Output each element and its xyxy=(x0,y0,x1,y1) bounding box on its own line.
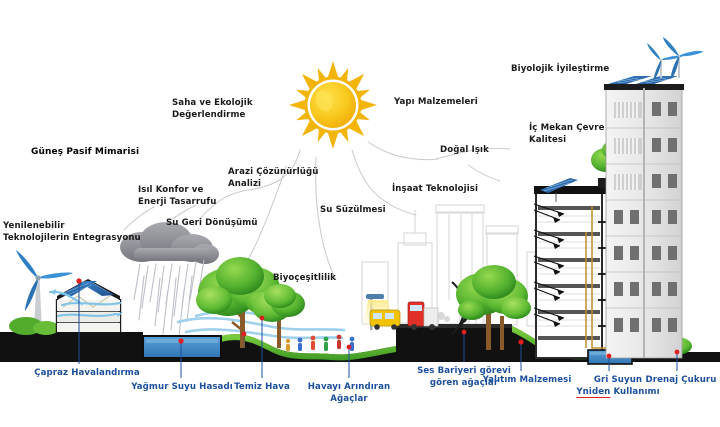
label-line: Yağmur Suyu Hasadı xyxy=(131,382,233,394)
label-line: Isıl Konfor ve xyxy=(138,185,216,197)
label-line: Biyolojik İyileştirme xyxy=(511,64,609,76)
label-line: Yalıtım Malzemesi xyxy=(483,375,572,387)
map-pin xyxy=(462,330,467,335)
label-line: Teknolojilerin Entegrasyonu xyxy=(3,233,141,245)
label-line: Biyoçeşitlilik xyxy=(273,273,336,285)
label-dogal-isik: Doğal Işık xyxy=(440,145,489,157)
label-line: Yapı Malzemeleri xyxy=(394,97,478,109)
sun-icon xyxy=(289,61,377,149)
label-line: İç Mekan Çevre xyxy=(529,123,605,135)
label-yapi-malzemeleri: Yapı Malzemeleri xyxy=(394,97,478,109)
label-line: Kalitesi xyxy=(529,135,605,147)
label-insaat-teknolojisi: İnşaat Teknolojisi xyxy=(392,184,478,196)
label-gunes-pasif-mimarisi: Güneş Pasif Mimarisi xyxy=(31,147,139,159)
spellcheck-underline: Yniden xyxy=(576,387,610,398)
map-pin xyxy=(675,350,680,355)
label-yalitim-malzemesi: Yalıtım Malzemesi xyxy=(483,375,572,387)
label-line: Temiz Hava xyxy=(234,382,290,394)
label-temiz-hava: Temiz Hava xyxy=(234,382,290,394)
label-su-suzulmesi: Su Süzülmesi xyxy=(320,205,386,217)
label-yenilenebilir-teknolojilerin-entegrasyonu: YenilenebilirTeknolojilerin Entegrasyonu xyxy=(3,221,141,244)
label-havayi-arindiran-agaclar: Havayı ArındıranAğaçlar xyxy=(308,382,390,405)
label-biyocesitlilik: Biyoçeşitlilik xyxy=(273,273,336,285)
label-ic-mekan-cevre-kalitesi: İç Mekan ÇevreKalitesi xyxy=(529,123,605,146)
label-line: Havayı Arındıran xyxy=(308,382,390,394)
map-pin xyxy=(347,345,352,350)
map-pin xyxy=(607,354,612,359)
label-yagmur-suyu-hasadi: Yağmur Suyu Hasadı xyxy=(131,382,233,394)
label-su-geri-donusumu: Su Geri Dönüşümü xyxy=(166,218,258,230)
label-arazi-cozunurlugu-analizi: Arazi ÇözünürlüğüAnalizi xyxy=(228,167,318,190)
house-cross-section xyxy=(50,278,123,332)
rooftop-wind-turbines xyxy=(646,37,703,81)
label-biyolojik-iyilestirme: Biyolojik İyileştirme xyxy=(511,64,609,76)
label-capraz-havalandirma: Çapraz Havalandırma xyxy=(34,368,140,380)
rooftop-solar-panels xyxy=(608,76,678,84)
map-pin xyxy=(179,339,184,344)
infographic-canvas: Saha ve EkolojikDeğerlendirmeGüneş Pasif… xyxy=(0,0,720,427)
label-isil-konfor-ve-enerji-tasarrufu: Isıl Konfor veEnerji Tasarrufu xyxy=(138,185,216,208)
label-drenaj-cukuru: Drenaj Çukuru xyxy=(646,375,717,387)
label-line: Doğal Işık xyxy=(440,145,489,157)
label-line: Çapraz Havalandırma xyxy=(34,368,140,380)
rain-drops xyxy=(134,260,204,336)
label-line: Güneş Pasif Mimarisi xyxy=(31,147,139,159)
label-line: Yniden Kullanımı xyxy=(576,387,659,399)
label-line: Saha ve Ekolojik xyxy=(172,98,253,110)
tall-building xyxy=(604,37,703,358)
map-pin xyxy=(519,340,524,345)
map-pin xyxy=(77,279,82,284)
label-line: İnşaat Teknolojisi xyxy=(392,184,478,196)
label-line: Analizi xyxy=(228,179,318,191)
label-line: Değerlendirme xyxy=(172,110,253,122)
map-pin xyxy=(260,316,265,321)
label-line: Arazi Çözünürlüğü xyxy=(228,167,318,179)
solar-panel-roof xyxy=(60,281,114,296)
label-line: Enerji Tasarrufu xyxy=(138,197,216,209)
label-line: Drenaj Çukuru xyxy=(646,375,717,387)
label-line: Su Geri Dönüşümü xyxy=(166,218,258,230)
label-line: Ağaçlar xyxy=(308,394,390,406)
label-line: Yenilenebilir xyxy=(3,221,141,233)
label-line: Su Süzülmesi xyxy=(320,205,386,217)
label-saha-ve-ekolojik-degerlendirme: Saha ve EkolojikDeğerlendirme xyxy=(172,98,253,121)
